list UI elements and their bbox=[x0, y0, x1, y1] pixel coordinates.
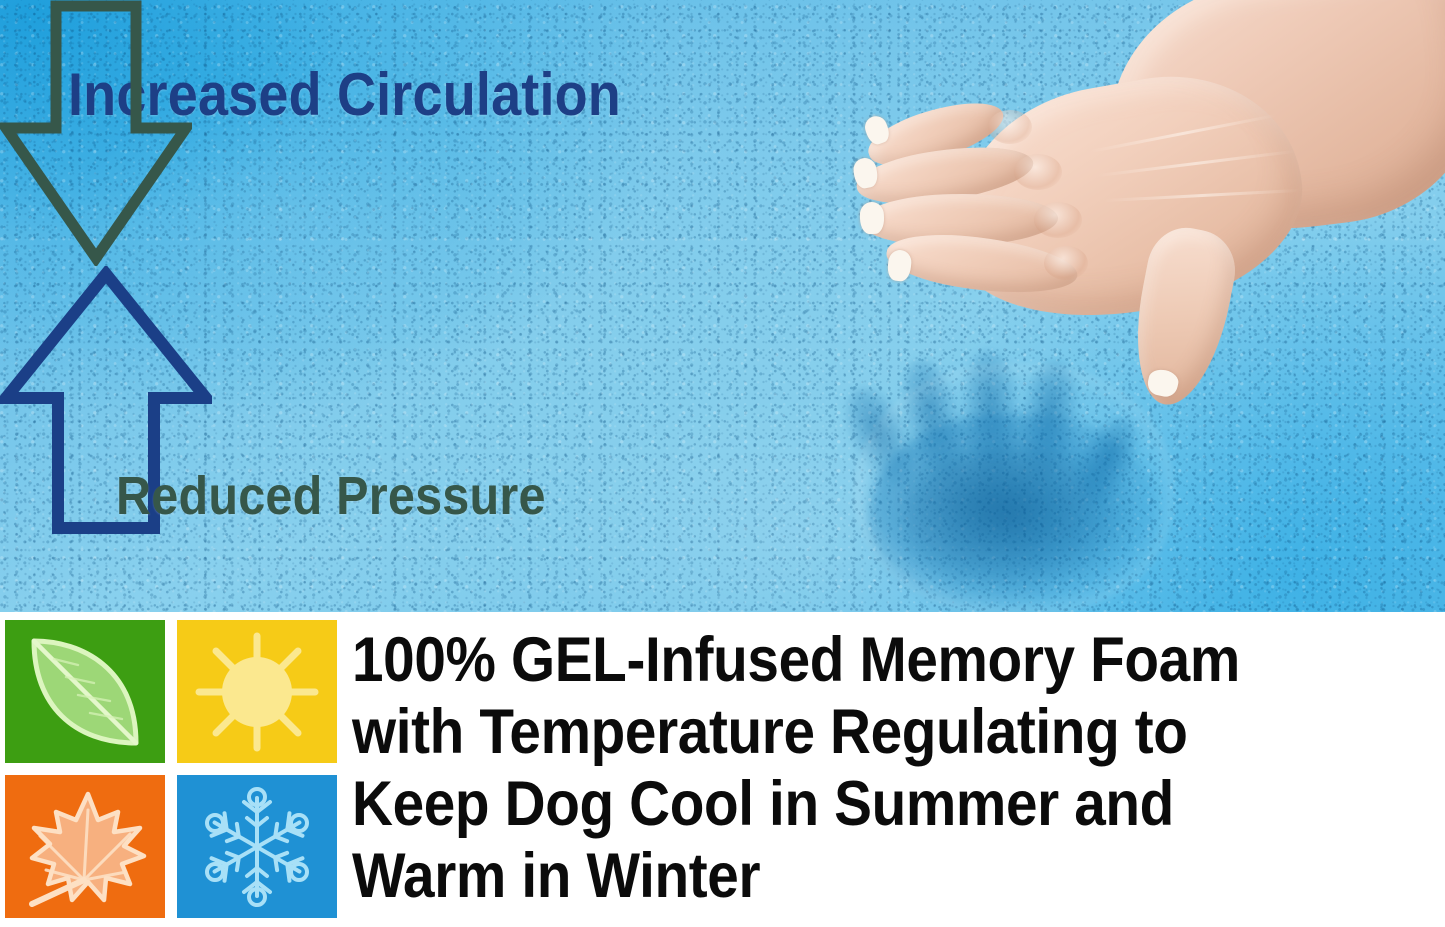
product-banner: Increased Circulation Reduced Pressure bbox=[0, 0, 1445, 927]
season-tile-winter bbox=[177, 775, 337, 918]
gel-foam-photo: Increased Circulation Reduced Pressure bbox=[0, 0, 1445, 612]
knuckle bbox=[1034, 202, 1082, 238]
headline-line-3: Keep Dog Cool in Summer and bbox=[352, 768, 1329, 840]
hand-image bbox=[838, 0, 1445, 462]
feature-callout-section: 100% GEL-Infused Memory Foam with Temper… bbox=[0, 612, 1445, 927]
season-tile-autumn bbox=[5, 775, 165, 918]
maple-leaf-icon bbox=[18, 784, 152, 910]
headline-text-block: 100% GEL-Infused Memory Foam with Temper… bbox=[352, 624, 1437, 912]
snowflake-icon bbox=[194, 786, 320, 908]
headline-line-2: with Temperature Regulating to bbox=[352, 696, 1329, 768]
fingernail bbox=[859, 202, 884, 235]
headline-line-4: Warm in Winter bbox=[352, 840, 1329, 912]
knuckle bbox=[1014, 154, 1062, 190]
fingernail bbox=[886, 249, 912, 282]
knuckle bbox=[1044, 246, 1088, 280]
season-tile-summer bbox=[177, 620, 337, 763]
season-icon-grid bbox=[5, 620, 337, 920]
sun-icon bbox=[193, 630, 321, 754]
headline-line-1: 100% GEL-Infused Memory Foam bbox=[352, 624, 1329, 696]
reduced-pressure-label: Reduced Pressure bbox=[116, 466, 546, 526]
leaf-icon bbox=[20, 631, 150, 753]
season-tile-spring bbox=[5, 620, 165, 763]
down-arrow-icon bbox=[0, 0, 192, 266]
knuckle bbox=[988, 110, 1032, 144]
